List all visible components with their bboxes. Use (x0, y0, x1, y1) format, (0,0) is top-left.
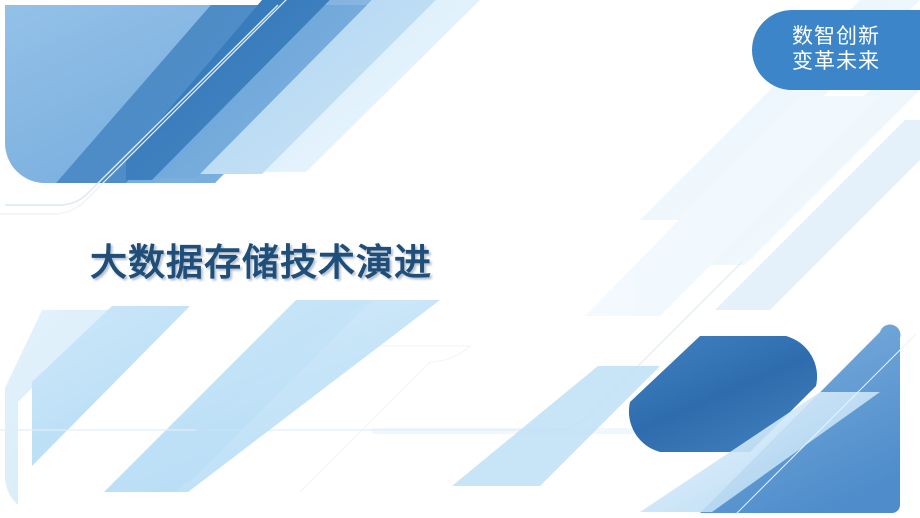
badge-slogan: 数智创新 变革未来 (752, 10, 920, 90)
badge-line-1: 数智创新 (792, 25, 880, 50)
slide-canvas: 数智创新 变革未来 大数据存储技术演进 (0, 0, 920, 518)
page-title: 大数据存储技术演进 (90, 232, 432, 286)
bottom-left-of-dark-sliver (452, 366, 660, 486)
badge-line-2: 变革未来 (792, 50, 880, 75)
